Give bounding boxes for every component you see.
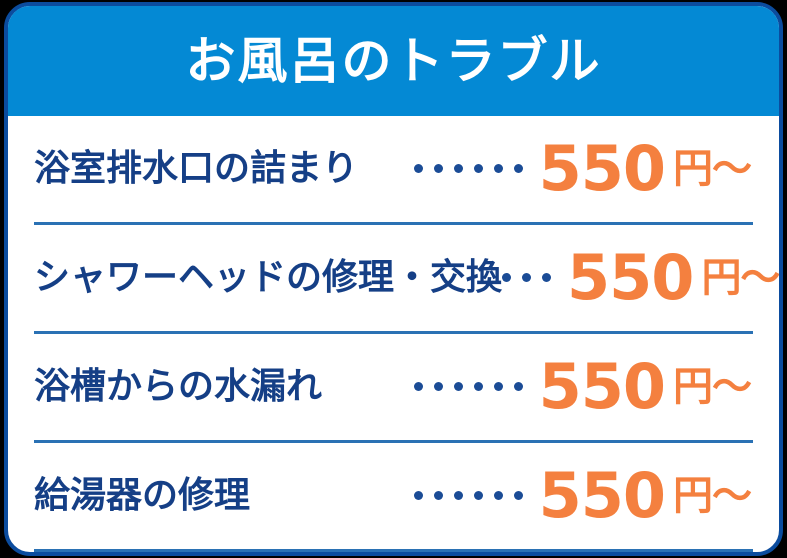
leader-dot — [454, 491, 463, 500]
page-title: お風呂のトラブル — [186, 36, 602, 86]
leader-dot — [414, 164, 423, 173]
leader-dot — [502, 273, 511, 282]
table-row: 給湯器の修理 550 円～ — [34, 443, 753, 552]
price-amount: 550 — [539, 465, 665, 527]
leader-dot — [494, 382, 503, 391]
price-group: 550 円～ — [414, 138, 751, 200]
price-unit: 円～ — [673, 476, 751, 516]
service-name-label: 浴室排水口の詰まり — [34, 149, 358, 189]
leader-dot — [474, 491, 483, 500]
leader-dot — [494, 491, 503, 500]
leader-dots-icon — [502, 273, 551, 282]
leader-dots-icon — [414, 491, 523, 500]
leader-dot — [454, 164, 463, 173]
leader-dot — [434, 491, 443, 500]
service-name-label: 浴槽からの水漏れ — [34, 367, 322, 407]
leader-dot — [494, 164, 503, 173]
price-amount: 550 — [539, 138, 665, 200]
service-name-label: シャワーヘッドの修理・交換 — [34, 258, 502, 298]
price-amount: 550 — [539, 356, 665, 418]
leader-dots-icon — [414, 164, 523, 173]
table-row: 浴槽からの水漏れ 550 円～ — [34, 334, 753, 443]
leader-dot — [542, 273, 551, 282]
leader-dot — [522, 273, 531, 282]
price-unit: 円～ — [701, 258, 779, 298]
price-group: 550 円～ — [414, 356, 751, 418]
price-amount: 550 — [567, 247, 693, 309]
price-row-list: 浴室排水口の詰まり 550 円～ シャワーヘッドの修理・交換 550 円～ 浴槽… — [8, 116, 779, 552]
leader-dot — [514, 382, 523, 391]
price-unit: 円～ — [673, 367, 751, 407]
table-row: 浴室排水口の詰まり 550 円～ — [34, 116, 753, 225]
leader-dot — [434, 164, 443, 173]
price-unit: 円～ — [673, 149, 751, 189]
card-header: お風呂のトラブル — [8, 6, 779, 116]
leader-dot — [514, 491, 523, 500]
leader-dot — [434, 382, 443, 391]
service-name-label: 給湯器の修理 — [34, 476, 250, 516]
leader-dot — [414, 491, 423, 500]
leader-dots-icon — [414, 382, 523, 391]
leader-dot — [474, 164, 483, 173]
leader-dot — [414, 382, 423, 391]
price-group: 550 円～ — [414, 465, 751, 527]
price-list-card: お風呂のトラブル 浴室排水口の詰まり 550 円～ シャワーヘッドの修理・交換 … — [4, 2, 783, 556]
table-row: シャワーヘッドの修理・交換 550 円～ — [34, 225, 753, 334]
price-group: 550 円～ — [502, 247, 779, 309]
leader-dot — [474, 382, 483, 391]
leader-dot — [454, 382, 463, 391]
leader-dot — [514, 164, 523, 173]
